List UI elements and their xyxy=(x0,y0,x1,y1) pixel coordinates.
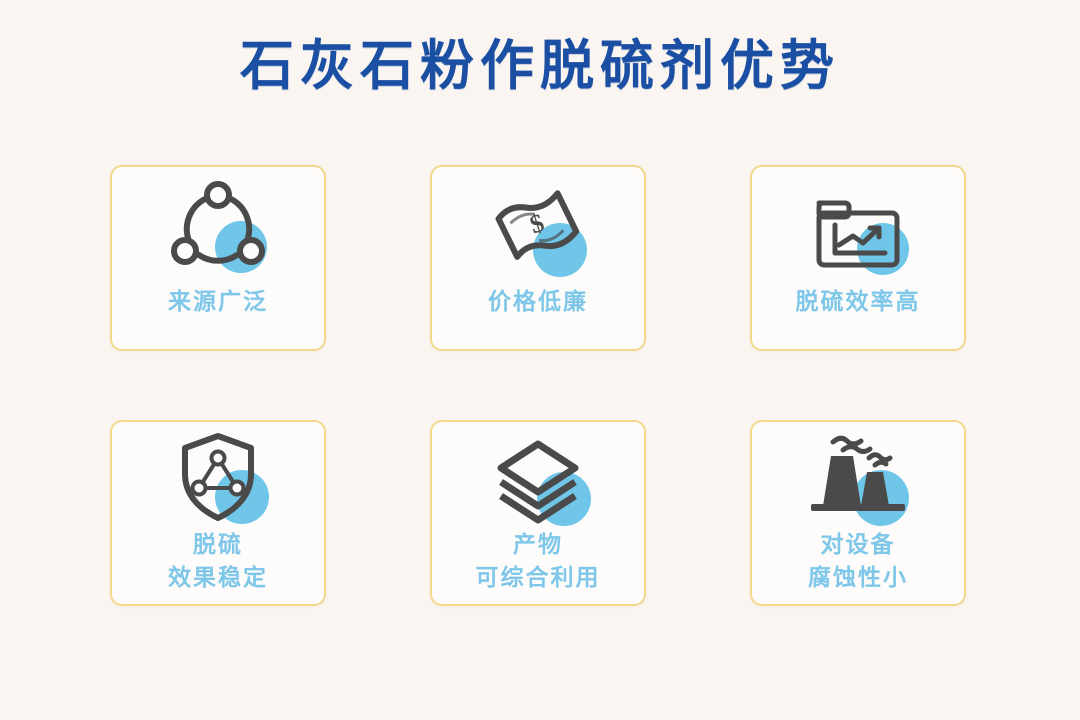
card-label: 脱硫效率高 xyxy=(752,285,964,318)
card-label-line2: 效果稳定 xyxy=(118,561,318,594)
card-label-line2: 可综合利用 xyxy=(438,561,638,594)
advantage-card-stable-effect[interactable]: 脱硫 效果稳定 xyxy=(110,420,326,606)
advantage-card-low-corrosion[interactable]: 对设备 腐蚀性小 xyxy=(750,420,966,606)
card-label: 脱硫 效果稳定 xyxy=(112,528,324,593)
card-label-line1: 脱硫 xyxy=(193,531,243,557)
card-label-line1: 产物 xyxy=(513,531,563,557)
network-nodes-icon xyxy=(163,179,273,279)
shield-triangle-network-icon xyxy=(163,428,273,528)
card-label-line1: 来源广泛 xyxy=(168,288,268,314)
card-icon-area xyxy=(110,167,326,285)
card-label: 对设备 腐蚀性小 xyxy=(752,528,964,593)
svg-text:$: $ xyxy=(526,208,547,240)
stacked-layers-icon xyxy=(483,428,593,528)
advantage-card-byproduct-reuse[interactable]: 产物 可综合利用 xyxy=(430,420,646,606)
folder-chart-icon xyxy=(803,179,913,279)
factory-cooling-towers-icon xyxy=(803,428,913,528)
banknote-dollar-icon: $ xyxy=(483,179,593,279)
card-icon-area: $ xyxy=(430,167,646,285)
page-title: 石灰石粉作脱硫剂优势 xyxy=(0,36,1080,96)
card-icon-area xyxy=(110,422,326,528)
card-icon-area xyxy=(750,422,966,528)
card-label-line1: 价格低廉 xyxy=(488,288,588,314)
card-label-line1: 对设备 xyxy=(821,531,896,557)
advantage-card-low-price[interactable]: $ 价格低廉 xyxy=(430,165,646,351)
card-label: 价格低廉 xyxy=(432,285,644,318)
card-label: 产物 可综合利用 xyxy=(432,528,644,593)
card-icon-area xyxy=(750,167,966,285)
advantage-card-high-efficiency[interactable]: 脱硫效率高 xyxy=(750,165,966,351)
poster-root: 石灰石粉作脱硫剂优势 xyxy=(0,0,1080,720)
card-label-line2: 腐蚀性小 xyxy=(758,561,958,594)
advantage-card-grid: 来源广泛 $ xyxy=(110,165,970,606)
advantage-card-source-wide[interactable]: 来源广泛 xyxy=(110,165,326,351)
card-label-line1: 脱硫效率高 xyxy=(796,288,921,314)
card-icon-area xyxy=(430,422,646,528)
card-label: 来源广泛 xyxy=(112,285,324,318)
